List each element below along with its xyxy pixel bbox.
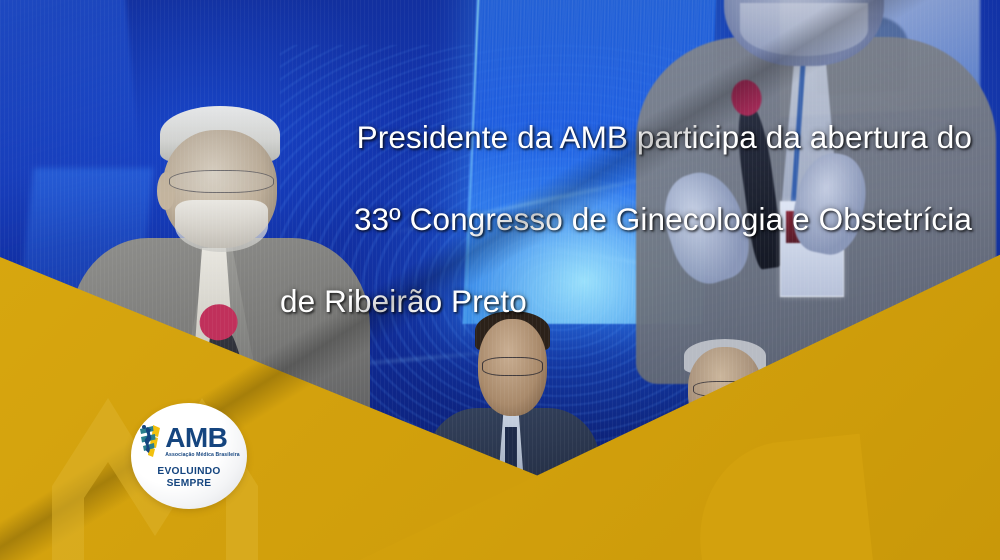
amb-logo-wordmark-row: AMB Associação Médica Brasileira [138, 424, 239, 459]
amb-logo-text: AMB Associação Médica Brasileira [165, 425, 239, 459]
headline-line-1: Presidente da AMB participa da abertura … [260, 117, 972, 158]
caduceus-ribbon-icon [138, 424, 163, 458]
amb-logo-tagline-line1: EVOLUINDO [157, 466, 220, 478]
amb-logo-tagline: EVOLUINDO SEMPRE [157, 466, 220, 490]
headline-line-3: de Ribeirão Preto [260, 281, 972, 322]
amb-logo-acronym: AMB [165, 425, 227, 451]
news-banner: Presidente da AMB participa da abertura … [0, 0, 1000, 560]
amb-logo[interactable]: AMB Associação Médica Brasileira EVOLUIN… [131, 403, 247, 509]
amb-logo-subtitle: Associação Médica Brasileira [165, 452, 239, 459]
headline-line-2: 33º Congresso de Ginecologia e Obstetríc… [260, 199, 972, 240]
amb-logo-tagline-line2: SEMPRE [157, 478, 220, 490]
